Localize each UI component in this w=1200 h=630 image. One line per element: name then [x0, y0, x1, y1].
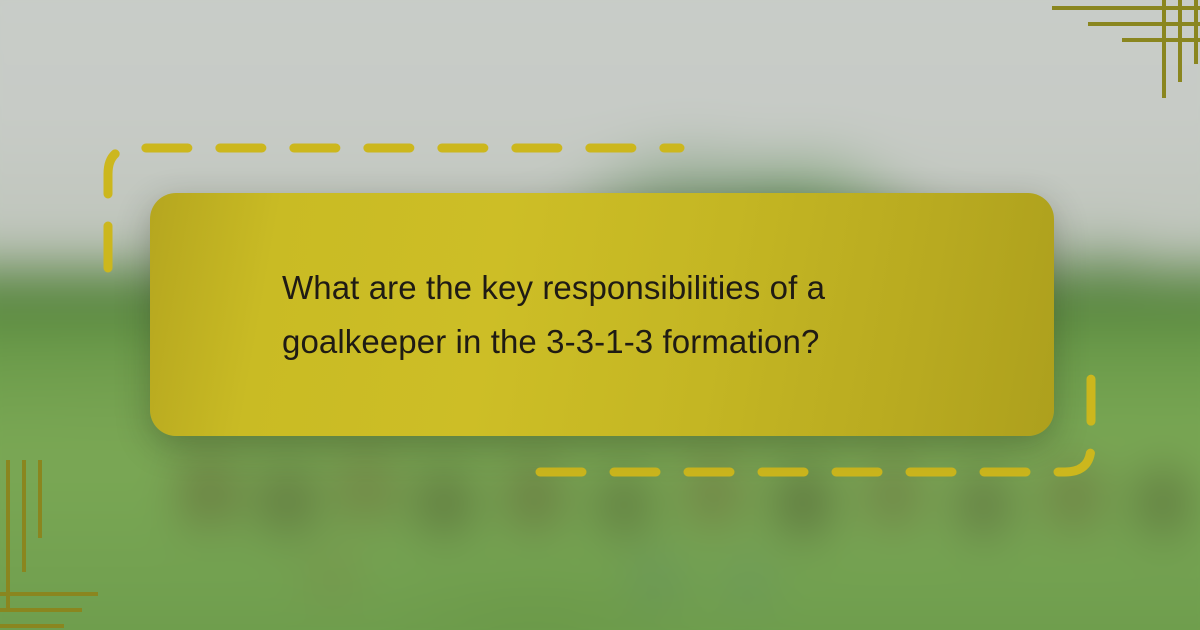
question-card: What are the key responsibilities of a g…	[150, 193, 1054, 436]
corner-grid-bottom-left-icon	[0, 460, 120, 630]
question-card-graphic: What are the key responsibilities of a g…	[0, 0, 1200, 630]
corner-grid-top-right-icon	[1030, 0, 1200, 120]
question-text: What are the key responsibilities of a g…	[282, 261, 922, 368]
